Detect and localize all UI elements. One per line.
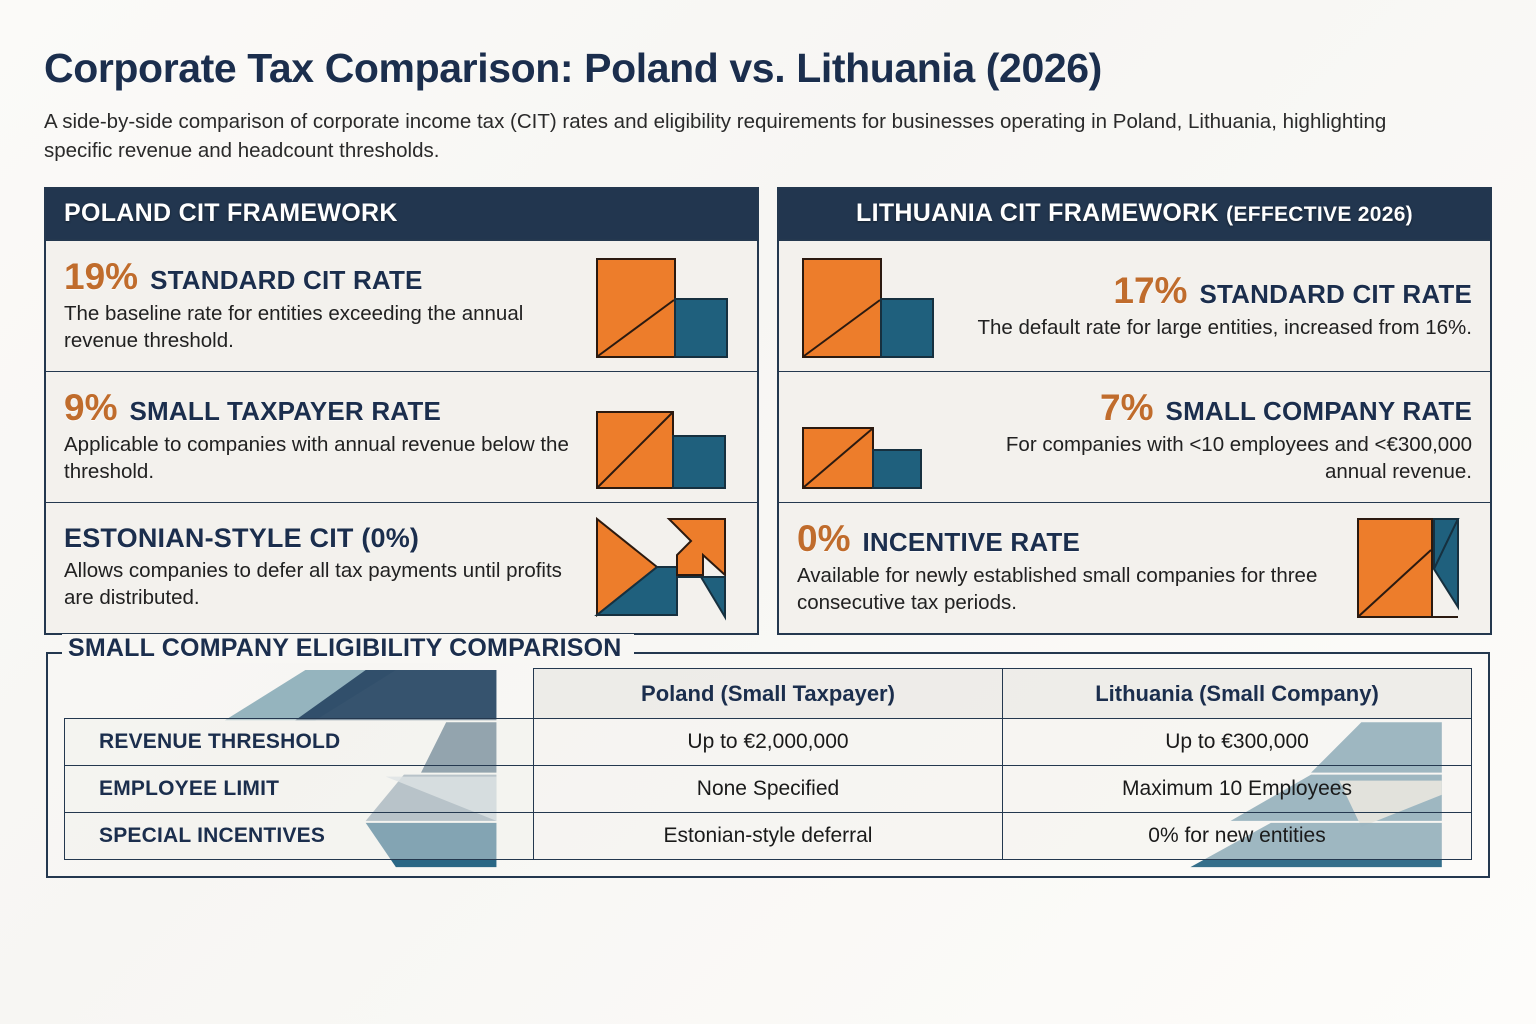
- rate-description: Allows companies to defer all tax paymen…: [64, 557, 591, 611]
- panel-header-lithuania: LITHUANIA CIT FRAMEWORK (EFFECTIVE 2026): [779, 189, 1490, 241]
- rate-percent: 17%: [1113, 272, 1187, 309]
- rate-headline: 17% STANDARD CIT RATE: [945, 272, 1472, 309]
- rate-label: ESTONIAN-STYLE CIT (0%): [64, 525, 419, 552]
- cell-poland-revenue-threshold: Up to €2,000,000: [534, 719, 1003, 766]
- cell-poland-employee-limit: None Specified: [534, 766, 1003, 813]
- bar-chart-icon: [591, 384, 739, 490]
- panel-lithuania: LITHUANIA CIT FRAMEWORK (EFFECTIVE 2026)…: [777, 187, 1492, 635]
- rate-row-text: 7% SMALL COMPANY RATE For companies with…: [945, 389, 1472, 485]
- infographic-page: Corporate Tax Comparison: Poland vs. Lit…: [0, 0, 1536, 1024]
- rate-percent: 7%: [1100, 389, 1153, 426]
- rate-row-text: ESTONIAN-STYLE CIT (0%) Allows companies…: [64, 525, 591, 611]
- cell-lithuania-special-incentives: 0% for new entities: [1003, 813, 1472, 860]
- growth-arrow-icon: [591, 515, 739, 621]
- panel-poland: POLAND CIT FRAMEWORK 19% STANDARD CIT RA…: [44, 187, 759, 635]
- panel-header-lithuania-sub: (EFFECTIVE 2026): [1226, 203, 1413, 226]
- rate-row-text: 9% SMALL TAXPAYER RATE Applicable to com…: [64, 389, 591, 485]
- cell-poland-special-incentives: Estonian-style deferral: [534, 813, 1003, 860]
- cell-lithuania-employee-limit: Maximum 10 Employees: [1003, 766, 1472, 813]
- rate-label: SMALL TAXPAYER RATE: [129, 398, 441, 424]
- rate-headline: 7% SMALL COMPANY RATE: [945, 389, 1472, 426]
- column-header-poland: Poland (Small Taxpayer): [534, 669, 1003, 719]
- bar-chart-icon: [591, 253, 739, 359]
- comparison-legend: SMALL COMPANY ELIGIBILITY COMPARISON: [62, 634, 634, 663]
- panel-rows-lithuania: 17% STANDARD CIT RATE The default rate f…: [779, 241, 1490, 633]
- rate-headline: ESTONIAN-STYLE CIT (0%): [64, 525, 591, 552]
- cell-lithuania-revenue-threshold: Up to €300,000: [1003, 719, 1472, 766]
- rate-description: For companies with <10 employees and <€3…: [945, 431, 1472, 485]
- rate-label: SMALL COMPANY RATE: [1166, 398, 1472, 424]
- row-label-employee-limit: EMPLOYEE LIMIT: [65, 766, 534, 813]
- rate-row-poland-standard: 19% STANDARD CIT RATE The baseline rate …: [46, 241, 757, 372]
- column-header-lithuania: Lithuania (Small Company): [1003, 669, 1472, 719]
- panel-header-poland: POLAND CIT FRAMEWORK: [46, 189, 757, 241]
- eligibility-comparison-table: Poland (Small Taxpayer) Lithuania (Small…: [64, 668, 1472, 860]
- rate-label: STANDARD CIT RATE: [150, 267, 423, 293]
- rate-headline: 19% STANDARD CIT RATE: [64, 258, 591, 295]
- row-label-revenue-threshold: REVENUE THRESHOLD: [65, 719, 534, 766]
- table-body: REVENUE THRESHOLD Up to €2,000,000 Up to…: [65, 719, 1472, 860]
- eligibility-comparison-section: SMALL COMPANY ELIGIBILITY COMPARISON: [46, 652, 1490, 878]
- rate-label: STANDARD CIT RATE: [1199, 281, 1472, 307]
- table-head: Poland (Small Taxpayer) Lithuania (Small…: [65, 669, 1472, 719]
- rate-percent: 9%: [64, 389, 117, 426]
- rate-description: The baseline rate for entities exceeding…: [64, 300, 591, 354]
- rate-percent: 0%: [797, 520, 850, 557]
- rate-description: The default rate for large entities, inc…: [945, 314, 1472, 341]
- rate-headline: 0% INCENTIVE RATE: [797, 520, 1324, 557]
- rate-description: Available for newly established small co…: [797, 562, 1324, 616]
- rate-row-text: 17% STANDARD CIT RATE The default rate f…: [945, 272, 1472, 341]
- page-title: Corporate Tax Comparison: Poland vs. Lit…: [44, 46, 1492, 91]
- table-row: REVENUE THRESHOLD Up to €2,000,000 Up to…: [65, 719, 1472, 766]
- rate-row-poland-estonian: ESTONIAN-STYLE CIT (0%) Allows companies…: [46, 503, 757, 633]
- square-diagonal-icon: [1324, 515, 1472, 621]
- comparison-table-wrap: Poland (Small Taxpayer) Lithuania (Small…: [64, 668, 1472, 860]
- page-subtitle: A side-by-side comparison of corporate i…: [44, 107, 1444, 165]
- table-row: EMPLOYEE LIMIT None Specified Maximum 10…: [65, 766, 1472, 813]
- row-label-special-incentives: SPECIAL INCENTIVES: [65, 813, 534, 860]
- table-header-row: Poland (Small Taxpayer) Lithuania (Small…: [65, 669, 1472, 719]
- rate-label: INCENTIVE RATE: [862, 529, 1080, 555]
- rate-percent: 19%: [64, 258, 138, 295]
- table-corner-cell: [65, 669, 534, 719]
- table-row: SPECIAL INCENTIVES Estonian-style deferr…: [65, 813, 1472, 860]
- rate-row-lithuania-standard: 17% STANDARD CIT RATE The default rate f…: [779, 241, 1490, 372]
- rate-row-poland-small: 9% SMALL TAXPAYER RATE Applicable to com…: [46, 372, 757, 503]
- rate-row-lithuania-incentive: 0% INCENTIVE RATE Available for newly es…: [779, 503, 1490, 633]
- panel-header-lithuania-text: LITHUANIA CIT FRAMEWORK: [856, 199, 1226, 227]
- panel-rows-poland: 19% STANDARD CIT RATE The baseline rate …: [46, 241, 757, 633]
- framework-panels: POLAND CIT FRAMEWORK 19% STANDARD CIT RA…: [44, 187, 1492, 635]
- rate-row-lithuania-small: 7% SMALL COMPANY RATE For companies with…: [779, 372, 1490, 503]
- panel-header-poland-text: POLAND CIT FRAMEWORK: [64, 199, 398, 227]
- rate-headline: 9% SMALL TAXPAYER RATE: [64, 389, 591, 426]
- rate-description: Applicable to companies with annual reve…: [64, 431, 591, 485]
- bar-chart-icon: [797, 253, 945, 359]
- bar-chart-icon: [797, 384, 945, 490]
- rate-row-text: 19% STANDARD CIT RATE The baseline rate …: [64, 258, 591, 354]
- rate-row-text: 0% INCENTIVE RATE Available for newly es…: [797, 520, 1324, 616]
